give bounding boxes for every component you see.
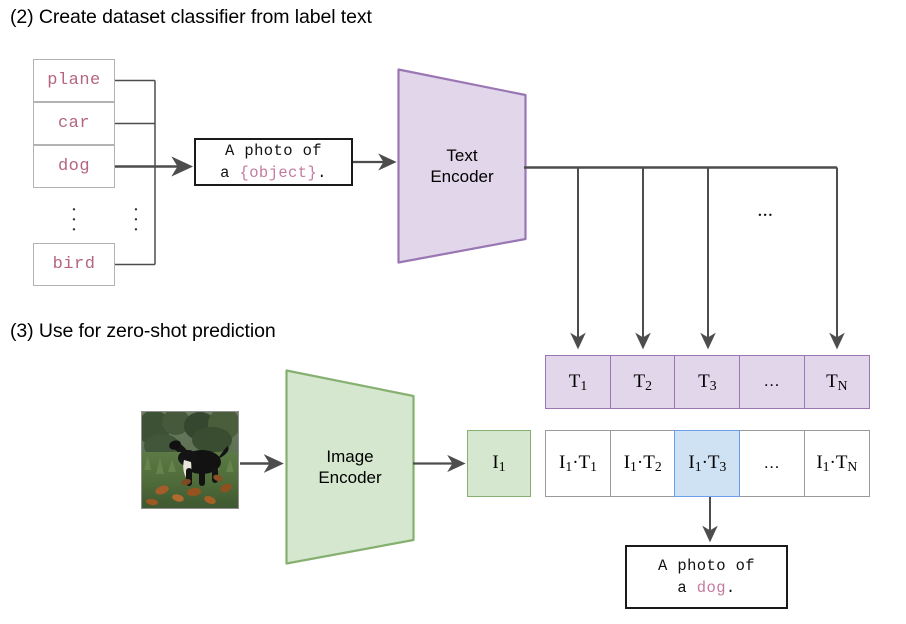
- step-3-heading: (3) Use for zero-shot prediction: [10, 320, 276, 343]
- similarity-cell-n[interactable]: I1·TN: [804, 430, 870, 497]
- similarity-cell-3-label: I1·T3: [688, 452, 726, 475]
- class-label-bird[interactable]: bird: [33, 243, 115, 286]
- text-embeddings-row: T1 T2 T3 … TN: [545, 355, 870, 409]
- prompt-line-1: A photo of: [225, 140, 322, 162]
- output-predicted-class: dog: [697, 579, 726, 597]
- class-label-dog-text: dog: [58, 157, 90, 176]
- output-line-2-prefix: a: [677, 579, 696, 597]
- text-embedding-cell-n-label: TN: [826, 371, 847, 394]
- text-embedding-cell-n[interactable]: TN: [804, 355, 870, 409]
- diagram-canvas: (2) Create dataset classifier from label…: [0, 0, 906, 624]
- similarity-cell-ellipsis: …: [739, 430, 805, 497]
- class-label-car-text: car: [58, 114, 90, 133]
- text-embedding-cell-3-label: T3: [698, 371, 716, 394]
- prompt-template-box[interactable]: A photo of a {object}.: [194, 138, 353, 186]
- prompt-object-slot: {object}: [240, 164, 318, 182]
- text-embedding-cell-2-label: T2: [633, 371, 651, 394]
- text-encoder-shape: [397, 68, 527, 264]
- class-label-dog[interactable]: dog: [33, 145, 115, 188]
- output-line-2: a dog.: [677, 577, 735, 599]
- output-line-1: A photo of: [658, 555, 755, 577]
- image-encoder-shape: [285, 369, 415, 565]
- dog-photograph: [142, 412, 238, 508]
- connector-ellipsis: ···: [124, 205, 148, 235]
- class-label-bird-text: bird: [53, 255, 96, 274]
- prompt-line-2-suffix: .: [317, 164, 327, 182]
- image-embedding-box[interactable]: I1: [467, 430, 531, 497]
- similarity-ellipsis-label: …: [764, 455, 781, 473]
- similarity-cell-3-selected[interactable]: I1·T3: [674, 430, 740, 497]
- text-embedding-cell-1[interactable]: T1: [545, 355, 611, 409]
- prompt-line-2-prefix: a: [220, 164, 239, 182]
- text-embedding-cell-3[interactable]: T3: [674, 355, 740, 409]
- similarity-cell-2-label: I1·T2: [624, 452, 662, 475]
- text-embedding-fanout-arrows: [578, 168, 837, 348]
- text-embedding-cell-2[interactable]: T2: [610, 355, 676, 409]
- prediction-output-box[interactable]: A photo of a dog.: [625, 545, 788, 609]
- input-photo[interactable]: [141, 411, 239, 509]
- similarity-cell-n-label: I1·TN: [816, 452, 857, 475]
- similarity-cell-1[interactable]: I1·T1: [545, 430, 611, 497]
- fanout-ellipsis: ...: [758, 204, 774, 221]
- class-label-plane-text: plane: [47, 71, 101, 90]
- class-label-car[interactable]: car: [33, 102, 115, 145]
- similarity-row: I1·T1 I1·T2 I1·T3 … I1·TN: [545, 430, 870, 497]
- prompt-line-2: a {object}.: [220, 162, 327, 184]
- class-labels-ellipsis: ···: [62, 205, 86, 235]
- image-encoder-block[interactable]: Image Encoder: [285, 369, 415, 565]
- output-line-2-suffix: .: [726, 579, 736, 597]
- step-2-heading: (2) Create dataset classifier from label…: [10, 6, 372, 29]
- class-label-plane[interactable]: plane: [33, 59, 115, 102]
- text-embedding-cell-ellipsis: …: [739, 355, 805, 409]
- text-encoder-block[interactable]: Text Encoder: [397, 68, 527, 264]
- text-embedding-ellipsis-label: …: [764, 373, 781, 391]
- text-embedding-cell-1-label: T1: [569, 371, 587, 394]
- similarity-cell-2[interactable]: I1·T2: [610, 430, 676, 497]
- similarity-cell-1-label: I1·T1: [559, 452, 597, 475]
- image-embedding-label: I1: [492, 452, 505, 475]
